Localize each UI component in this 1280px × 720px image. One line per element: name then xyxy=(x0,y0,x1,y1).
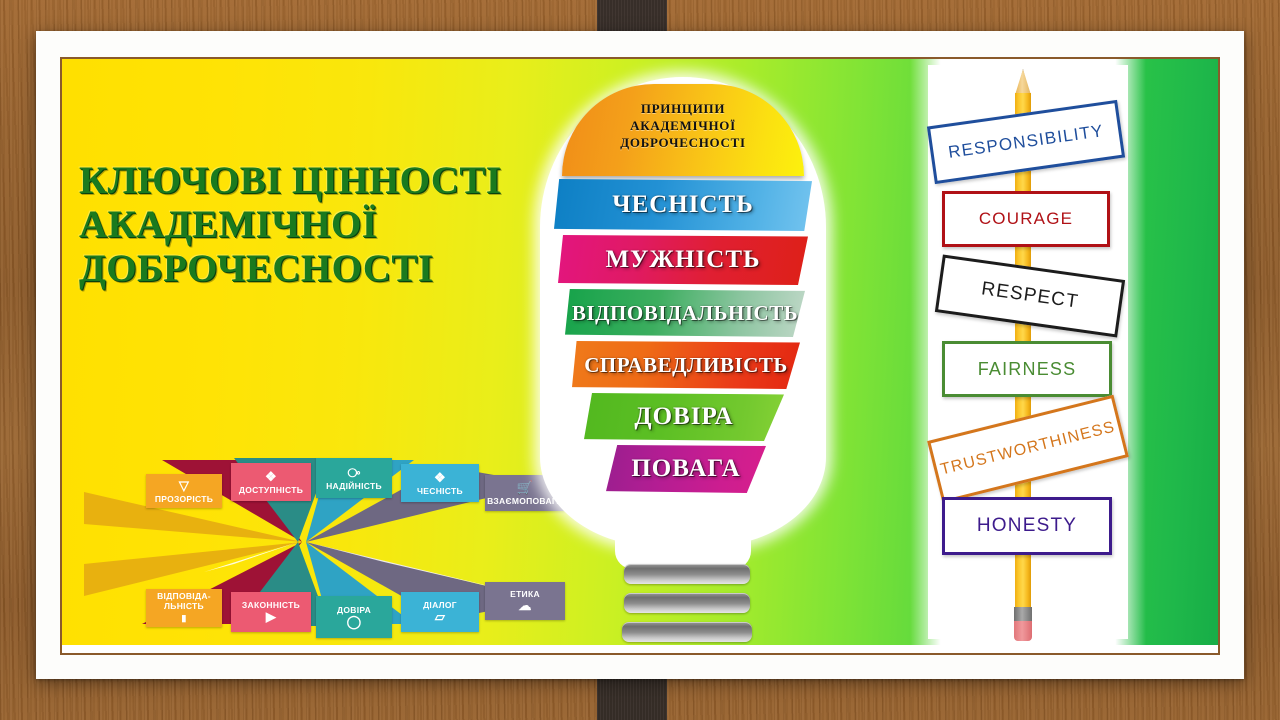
values-fan-diagram: ▽ ПРОЗОРІСТЬ ❖ ДОСТУПНІСТЬ ⧂ НАДІЙНІСТЬ … xyxy=(84,414,544,639)
puzzle-icon: ▮ xyxy=(181,611,186,625)
fan-card-label: ПРОЗОРІСТЬ xyxy=(155,494,213,504)
sign-label: HONESTY xyxy=(977,515,1077,537)
fan-card-zakonnist[interactable]: ЗАКОННІСТЬ ▶ xyxy=(231,592,311,632)
fan-card-label: НАДІЙНІСТЬ xyxy=(326,481,382,491)
lightbulb-funnel: ПРИНЦИПИ АКАДЕМІЧНОЇ ДОБРОЧЕСНОСТІ ЧЕСНІ… xyxy=(522,59,842,645)
bulb-neck xyxy=(615,489,751,569)
slide-stage: КЛЮЧОВІ ЦІННОСТІ АКАДЕМІЧНОЇ ДОБРОЧЕСНОС… xyxy=(0,0,1280,720)
dome-line-1: ПРИНЦИПИ xyxy=(620,100,746,117)
sign-label: COURAGE xyxy=(979,209,1073,229)
bulb-screw-thread xyxy=(622,622,752,642)
sign-label: RESPECT xyxy=(980,278,1080,313)
funnel-layer-chesnist[interactable]: ЧЕСНІСТЬ xyxy=(554,179,812,231)
dome-line-2: АКАДЕМІЧНОЇ xyxy=(620,117,746,134)
sign-fairness[interactable]: FAIRNESS xyxy=(942,341,1112,397)
target-icon: ❖ xyxy=(434,471,446,485)
funnel-layer-muzhnist[interactable]: МУЖНІСТЬ xyxy=(558,235,808,285)
pencil-ferrule-icon xyxy=(1014,607,1032,621)
title-line-1: КЛЮЧОВІ ЦІННОСТІ xyxy=(79,159,559,203)
signpost-panel: RESPONSIBILITY COURAGE RESPECT FAIRNESS … xyxy=(910,59,1146,645)
expand-icon: ⧂ xyxy=(347,466,360,480)
lightbulb-icon: ◯ xyxy=(347,615,362,629)
fan-card-prozorist[interactable]: ▽ ПРОЗОРІСТЬ xyxy=(146,474,222,508)
tag-icon: ▱ xyxy=(435,610,445,624)
fan-card-dialoh[interactable]: ДІАЛОГ ▱ xyxy=(401,592,479,632)
fan-card-label: ДОВІРА xyxy=(337,605,371,615)
fan-card-dovira[interactable]: ДОВІРА ◯ xyxy=(316,596,392,638)
fan-card-label: ДОСТУПНІСТЬ xyxy=(239,485,303,495)
dome-line-3: ДОБРОЧЕСНОСТІ xyxy=(620,134,746,151)
sign-label: RESPONSIBILITY xyxy=(947,121,1105,163)
funnel-dome-title[interactable]: ПРИНЦИПИ АКАДЕМІЧНОЇ ДОБРОЧЕСНОСТІ xyxy=(562,84,804,176)
funnel-layer-vidpovidalnist[interactable]: ВІДПОВІДАЛЬНІСТЬ xyxy=(565,289,805,337)
bulb-screw-thread xyxy=(624,593,750,613)
funnel-layer-povaha[interactable]: ПОВАГА xyxy=(606,445,766,493)
title-line-3: ДОБРОЧЕСНОСТІ xyxy=(79,247,559,291)
fan-card-label-line2: ЛЬНІСТЬ xyxy=(164,601,204,611)
fan-card-dostupnist[interactable]: ❖ ДОСТУПНІСТЬ xyxy=(231,463,311,501)
box-icon: ❖ xyxy=(265,470,277,484)
sign-courage[interactable]: COURAGE xyxy=(942,191,1110,247)
fan-card-vidpovidalnist[interactable]: ВІДПОВІДА- ЛЬНІСТЬ ▮ xyxy=(146,589,222,627)
funnel-layer-dovira[interactable]: ДОВІРА xyxy=(584,393,784,441)
sign-honesty[interactable]: HONESTY xyxy=(942,497,1112,555)
page-title: КЛЮЧОВІ ЦІННОСТІ АКАДЕМІЧНОЇ ДОБРОЧЕСНОС… xyxy=(79,159,559,291)
fan-card-label: ДІАЛОГ xyxy=(423,600,457,610)
bulb-screw-thread xyxy=(624,564,750,584)
pencil-eraser-icon xyxy=(1014,621,1032,641)
title-line-2: АКАДЕМІЧНОЇ xyxy=(79,203,559,247)
fan-card-chesnist[interactable]: ❖ ЧЕСНІСТЬ xyxy=(401,464,479,502)
video-camera-icon: ▶ xyxy=(266,610,276,624)
fan-card-nadiynist[interactable]: ⧂ НАДІЙНІСТЬ xyxy=(316,458,392,498)
funnel-layer-spravedlyvist[interactable]: СПРАВЕДЛИВІСТЬ xyxy=(572,341,800,389)
fan-card-label: ЗАКОННІСТЬ xyxy=(242,600,300,610)
funnel-icon: ▽ xyxy=(179,479,189,493)
fan-card-label-line1: ВІДПОВІДА- xyxy=(157,591,211,601)
presentation-slide: КЛЮЧОВІ ЦІННОСТІ АКАДЕМІЧНОЇ ДОБРОЧЕСНОС… xyxy=(62,59,1218,645)
fan-card-label: ЧЕСНІСТЬ xyxy=(417,486,463,496)
sign-label: FAIRNESS xyxy=(978,359,1077,380)
